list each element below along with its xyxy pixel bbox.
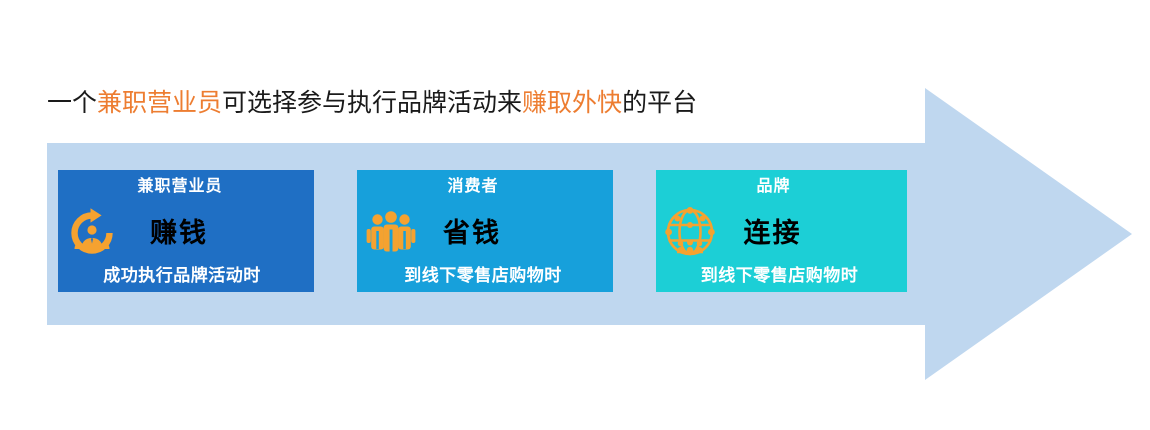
card-main-label: 赚钱	[58, 216, 314, 250]
headline-segment-4: 的平台	[622, 90, 697, 117]
headline-segment-1-accent: 兼职营业员	[97, 90, 222, 117]
card-title: 消费者	[357, 176, 613, 198]
card-caption: 到线下零售店购物时	[656, 265, 907, 287]
headline-segment-3-accent: 赚取外快	[522, 90, 622, 117]
page-title: 一个兼职营业员可选择参与执行品牌活动来赚取外快的平台	[47, 88, 697, 120]
slide-canvas: 一个兼职营业员可选择参与执行品牌活动来赚取外快的平台 兼职营业员 赚钱 成功执行…	[0, 0, 1150, 430]
card-consumer[interactable]: 消费者 省钱 到线下零售店购物时	[357, 170, 613, 292]
card-main-label: 省钱	[357, 216, 613, 250]
card-brand[interactable]: 品牌 连接 到线下零售店购物时	[656, 170, 907, 292]
card-main-label: 连接	[656, 216, 907, 250]
headline-segment-2: 可选择参与执行品牌活动来	[222, 90, 522, 117]
headline-segment-0: 一个	[47, 90, 97, 117]
card-title: 兼职营业员	[58, 176, 314, 198]
card-caption: 到线下零售店购物时	[357, 265, 613, 287]
card-part-time-clerk[interactable]: 兼职营业员 赚钱 成功执行品牌活动时	[58, 170, 314, 292]
card-caption: 成功执行品牌活动时	[58, 265, 314, 287]
card-title: 品牌	[656, 176, 907, 198]
